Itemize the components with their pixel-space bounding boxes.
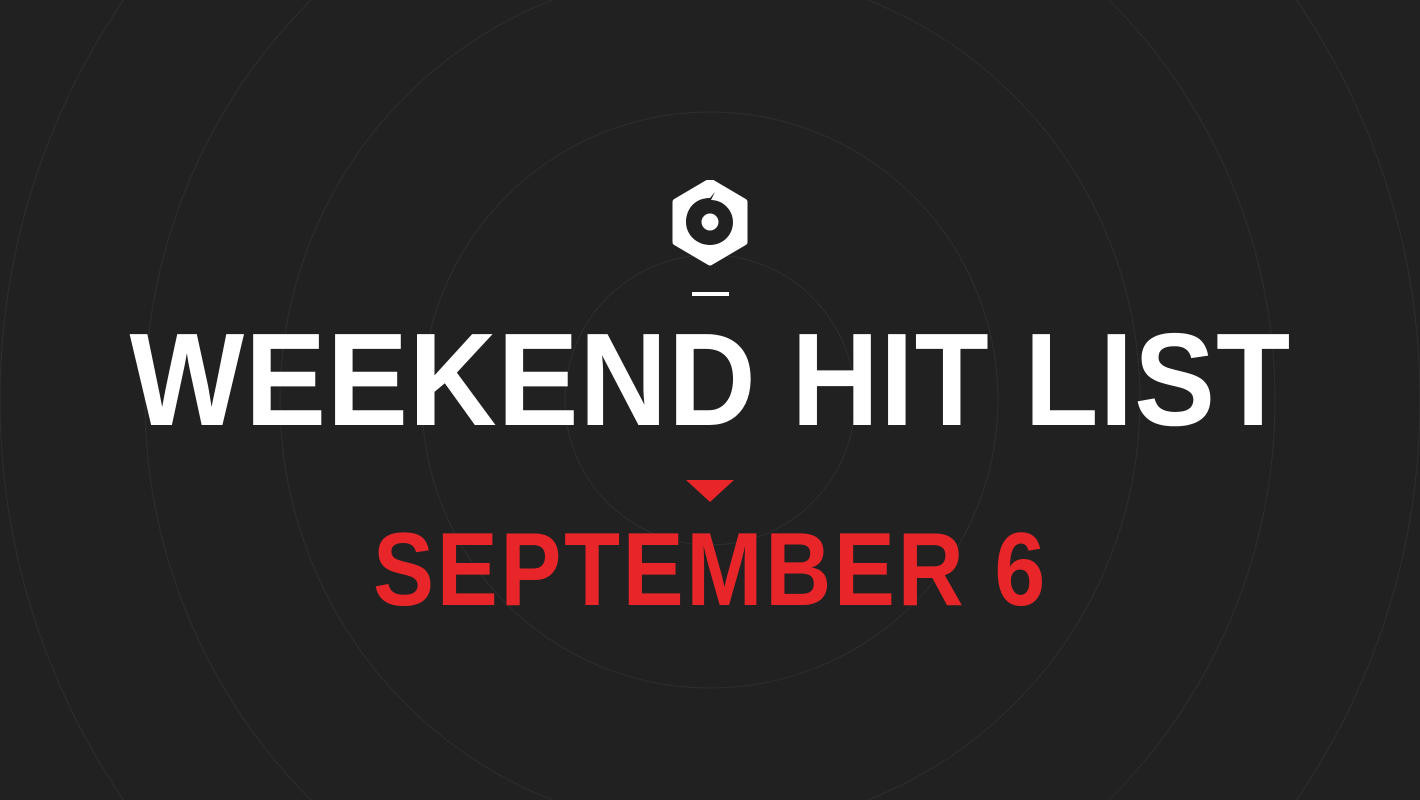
brand-logo [672, 180, 748, 276]
center-dot-icon [702, 214, 719, 231]
card-content: WEEKEND HIT LIST SEPTEMBER 6 [0, 0, 1420, 800]
title-card: WEEKEND HIT LIST SEPTEMBER 6 [0, 0, 1420, 800]
episode-date: SEPTEMBER 6 [373, 518, 1048, 622]
page-title: WEEKEND HIT LIST [129, 314, 1291, 446]
divider-bar [692, 292, 729, 296]
triangle-down-icon [686, 480, 734, 502]
